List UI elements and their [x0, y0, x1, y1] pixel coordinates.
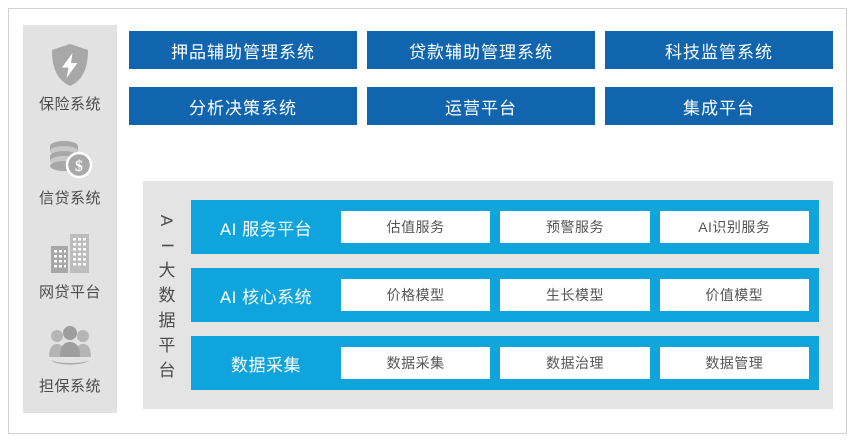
- ai-platform-rows: AI 服务平台 估值服务 预警服务 AI识别服务 AI 核心系统 价格模型 生长…: [191, 181, 833, 409]
- buildings-icon: [47, 230, 93, 276]
- ai-chip[interactable]: 生长模型: [500, 279, 649, 311]
- ai-chip[interactable]: 数据管理: [660, 347, 809, 379]
- ai-chip[interactable]: 数据采集: [341, 347, 490, 379]
- sidebar-item-label: 保险系统: [39, 93, 101, 114]
- vertical-title-char: 平: [159, 337, 176, 354]
- system-row-2: 分析决策系统 运营平台 集成平台: [129, 87, 833, 125]
- sidebar-item-online-loan[interactable]: 网贷平台: [23, 230, 117, 302]
- system-bar[interactable]: 运营平台: [367, 87, 595, 125]
- ai-chip[interactable]: AI识别服务: [660, 211, 809, 243]
- ai-chip[interactable]: 价值模型: [660, 279, 809, 311]
- ai-chip[interactable]: 估值服务: [341, 211, 490, 243]
- system-bar[interactable]: 贷款辅助管理系统: [367, 31, 595, 69]
- shield-bolt-icon: [47, 42, 93, 88]
- system-bar[interactable]: 分析决策系统: [129, 87, 357, 125]
- ai-layer-chips: 价格模型 生长模型 价值模型: [341, 279, 809, 311]
- ai-chip[interactable]: 价格模型: [341, 279, 490, 311]
- system-bar[interactable]: 押品辅助管理系统: [129, 31, 357, 69]
- ai-bigdata-platform-panel: A I 大 数 据 平 台 AI 服务平台 估值服务 预警服务 AI识别服务 A…: [143, 181, 833, 409]
- sidebar-item-label: 信贷系统: [39, 187, 101, 208]
- top-systems: 押品辅助管理系统 贷款辅助管理系统 科技监管系统 分析决策系统 运营平台 集成平…: [129, 31, 833, 143]
- system-row-1: 押品辅助管理系统 贷款辅助管理系统 科技监管系统: [129, 31, 833, 69]
- ai-layer-label: 数据采集: [191, 351, 341, 376]
- ai-layer-label: AI 核心系统: [191, 283, 341, 308]
- system-bar[interactable]: 科技监管系统: [605, 31, 833, 69]
- ai-chip[interactable]: 数据治理: [500, 347, 649, 379]
- vertical-title-char: 数: [159, 287, 176, 304]
- diagram-frame: 保险系统 $ 信贷系统: [8, 8, 847, 434]
- coins-dollar-icon: $: [47, 136, 93, 182]
- vertical-title-char: I: [158, 243, 175, 248]
- ai-chip[interactable]: 预警服务: [500, 211, 649, 243]
- sidebar-item-guarantee[interactable]: 担保系统: [23, 324, 117, 396]
- sidebar: 保险系统 $ 信贷系统: [23, 25, 117, 413]
- svg-text:$: $: [75, 158, 83, 175]
- vertical-title-char: 大: [159, 262, 176, 279]
- sidebar-item-label: 网贷平台: [39, 281, 101, 302]
- ai-layer-chips: 估值服务 预警服务 AI识别服务: [341, 211, 809, 243]
- vertical-title-char: A: [159, 214, 176, 225]
- sidebar-item-credit[interactable]: $ 信贷系统: [23, 136, 117, 208]
- vertical-title-char: 台: [159, 362, 176, 379]
- ai-layer-row: 数据采集 数据采集 数据治理 数据管理: [191, 336, 819, 390]
- sidebar-item-label: 担保系统: [39, 375, 101, 396]
- ai-platform-vertical-title: A I 大 数 据 平 台: [143, 181, 191, 409]
- ai-layer-chips: 数据采集 数据治理 数据管理: [341, 347, 809, 379]
- sidebar-item-insurance[interactable]: 保险系统: [23, 42, 117, 114]
- ai-layer-label: AI 服务平台: [191, 215, 341, 240]
- ai-layer-row: AI 服务平台 估值服务 预警服务 AI识别服务: [191, 200, 819, 254]
- people-group-icon: [47, 324, 93, 370]
- system-bar[interactable]: 集成平台: [605, 87, 833, 125]
- ai-layer-row: AI 核心系统 价格模型 生长模型 价值模型: [191, 268, 819, 322]
- vertical-title-char: 据: [159, 312, 176, 329]
